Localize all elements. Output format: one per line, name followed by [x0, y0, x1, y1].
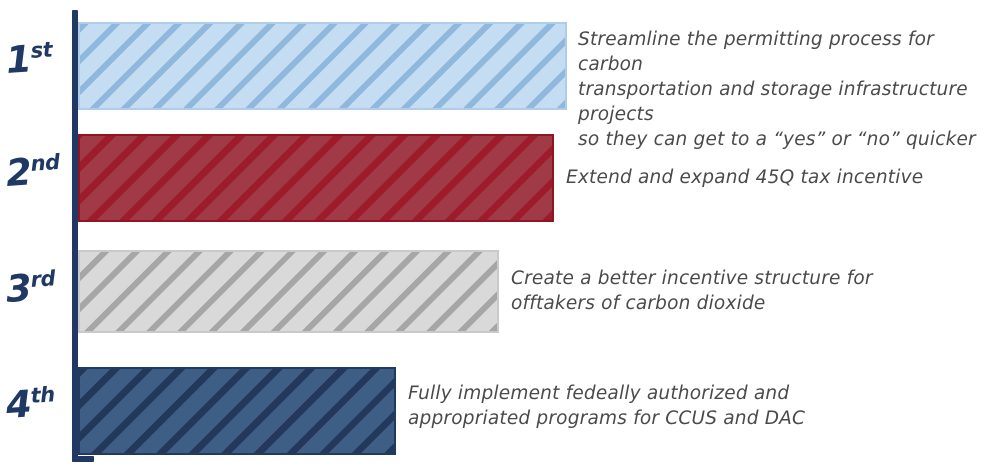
bar-1[interactable] — [78, 22, 567, 110]
bar-label-4: Fully implement fedeally authorized and … — [408, 381, 828, 431]
ranked-bar-chart: 1st Streamline the permitting process fo… — [0, 0, 1000, 474]
category-axis-foot — [72, 456, 94, 462]
bar-label-3: Create a better incentive structure for … — [511, 266, 931, 316]
rank-label-4: 4th — [5, 383, 69, 424]
rank-label-1-suffix: st — [30, 37, 53, 62]
rank-label-4-stem: 4 — [5, 382, 33, 427]
bar-4[interactable] — [78, 367, 396, 455]
rank-label-3: 3rd — [5, 267, 69, 308]
rank-label-2: 2nd — [5, 151, 69, 192]
rank-label-3-stem: 3 — [5, 266, 33, 311]
rank-label-4-suffix: th — [30, 382, 56, 408]
bar-label-1: Streamline the permitting process for ca… — [578, 27, 990, 152]
bar-label-2: Extend and expand 45Q tax incentive — [566, 165, 986, 190]
rank-label-3-suffix: rd — [30, 266, 56, 292]
bar-2[interactable] — [78, 134, 554, 222]
bar-3[interactable] — [78, 250, 499, 333]
rank-label-1: 1st — [5, 38, 69, 79]
rank-label-2-suffix: nd — [30, 150, 61, 176]
rank-label-2-stem: 2 — [5, 150, 33, 195]
rank-label-1-stem: 1 — [5, 37, 33, 82]
